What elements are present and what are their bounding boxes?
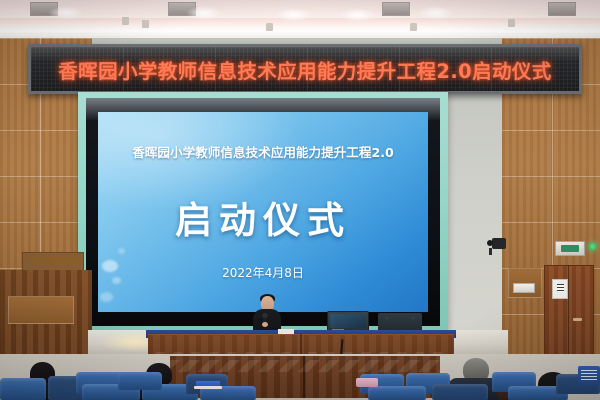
ceiling-fixture — [410, 23, 417, 31]
digital-wall-panel[interactable] — [555, 241, 585, 256]
ceiling-downlight — [48, 6, 84, 20]
door-handle-icon[interactable] — [573, 318, 582, 321]
sign-text-lines-icon — [557, 284, 564, 292]
presenter-hand — [262, 322, 268, 327]
auditorium-seat — [0, 378, 46, 400]
projection-screen: 香晖园小学教师信息技术应用能力提升工程2.0 启动仪式 2022年4月8日 — [98, 112, 428, 312]
panel-display-icon — [561, 245, 579, 252]
wall-panel — [8, 296, 74, 324]
monitor-screen — [330, 314, 366, 328]
camera-mount — [489, 248, 492, 255]
ceiling-vent — [382, 2, 410, 16]
auditorium-photo: 香晖园小学教师信息技术应用能力提升工程2.0启动仪式 香晖园小学教师信息技术应用… — [0, 0, 600, 400]
bokeh-circle — [118, 248, 125, 254]
ceiling-fixture — [266, 23, 273, 31]
slide-date: 2022年4月8日 — [98, 264, 428, 281]
ceiling-downlight — [340, 8, 376, 22]
door-notice-sign — [552, 279, 568, 299]
wall-poster — [578, 366, 600, 386]
ceiling-downlight — [418, 6, 454, 20]
ceiling-fixture — [142, 20, 149, 28]
slide-subtitle: 香晖园小学教师信息技术应用能力提升工程2.0 — [98, 142, 428, 161]
ceiling-downlight — [276, 8, 312, 22]
ceiling-fixture — [508, 19, 515, 27]
ceiling-fixture — [122, 17, 129, 25]
bag-on-seat — [356, 378, 378, 387]
auditorium-seat — [432, 384, 488, 400]
audience-wall-pattern — [170, 360, 440, 372]
security-camera-icon — [492, 238, 506, 249]
led-banner: 香晖园小学教师信息技术应用能力提升工程2.0启动仪式 — [28, 44, 582, 94]
ceiling-downlight — [186, 6, 222, 20]
poster-text-lines-icon — [581, 370, 597, 381]
light-switch[interactable] — [513, 283, 535, 293]
ceiling-vent — [548, 2, 576, 16]
slide-headline: 启动仪式 — [98, 190, 428, 244]
green-indicator-light-icon — [588, 242, 597, 251]
led-banner-text: 香晖园小学教师信息技术应用能力提升工程2.0启动仪式 — [31, 47, 579, 91]
auditorium-seat — [118, 372, 162, 390]
bokeh-circle — [100, 292, 113, 302]
audience-wall-seam — [303, 356, 305, 398]
laptop — [196, 381, 220, 389]
auditorium-seat — [368, 386, 426, 400]
laptop-base — [194, 386, 222, 389]
